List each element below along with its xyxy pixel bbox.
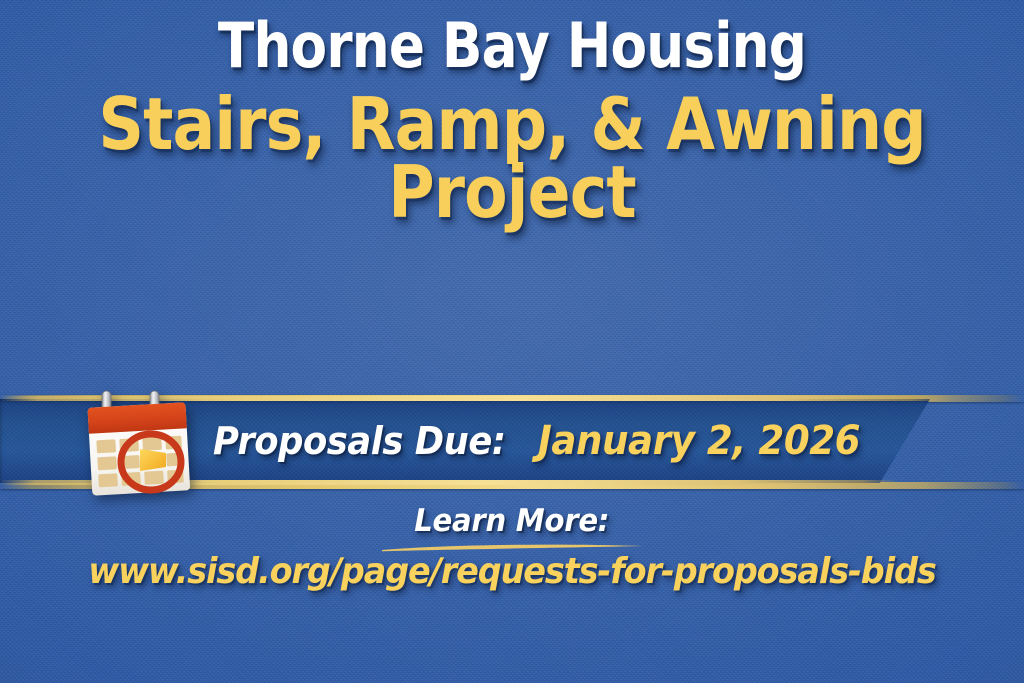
proposals-due-label: Proposals Due: [213,419,506,463]
learn-more-group: Learn More: [0,503,1024,552]
learn-more-label: Learn More: [415,503,610,539]
calendar-icon [78,389,200,497]
website-url[interactable]: www.sisd.org/page/requests-for-proposals… [36,551,988,592]
banner-text-group: Proposals Due: January 2, 2026 [213,406,884,476]
headline-line-1: Thorne Bay Housing [72,14,953,77]
due-date-value: January 2, 2026 [538,418,860,464]
poster-canvas: Thorne Bay Housing Stairs, Ramp, & Awnin… [0,0,1024,683]
headline-line-3: Project [61,155,962,229]
page-title: Thorne Bay Housing Stairs, Ramp, & Awnin… [0,14,1024,230]
